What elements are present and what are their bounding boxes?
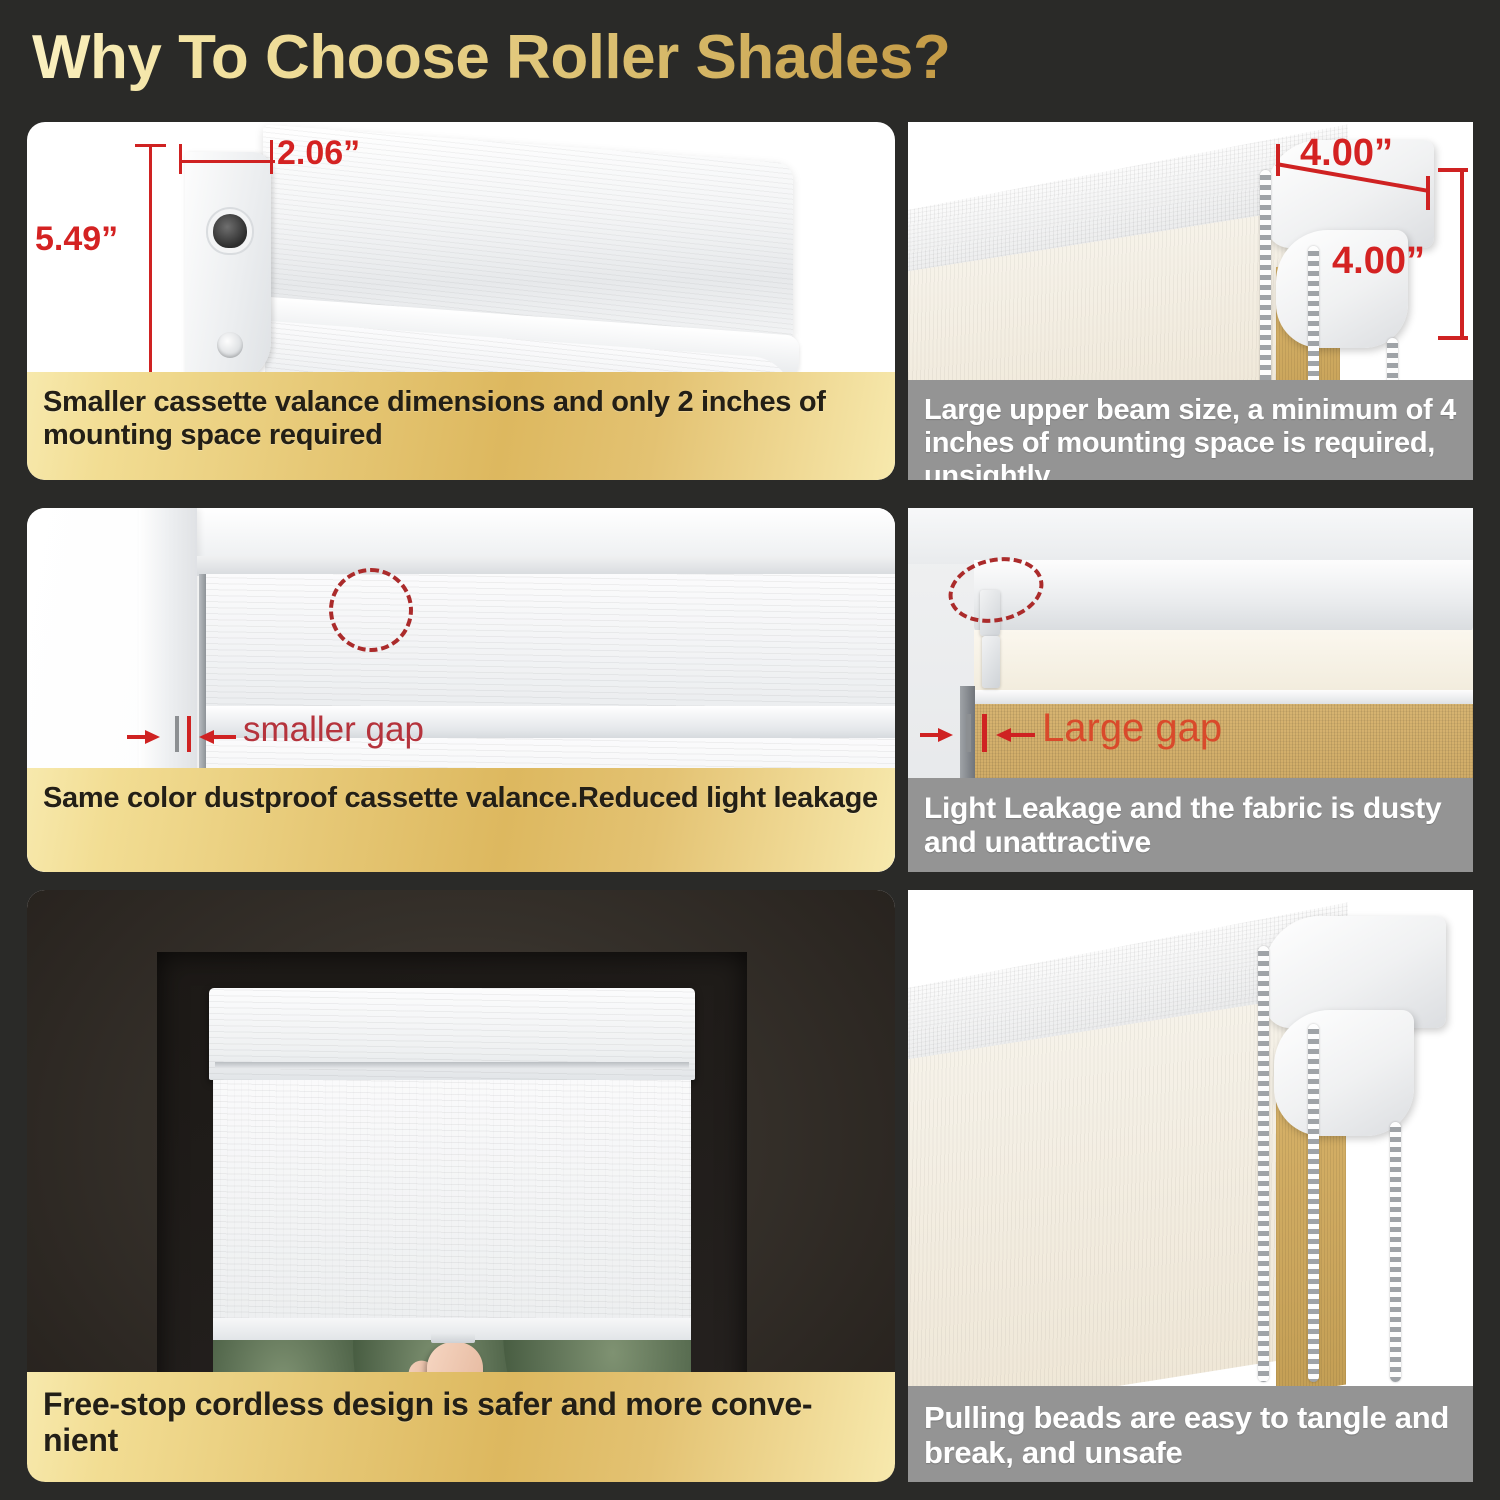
beam-width-tick-left bbox=[1276, 144, 1280, 176]
gap-highlight-circle bbox=[329, 568, 413, 652]
beam-height-line bbox=[1460, 168, 1464, 340]
panel-6-caption: Pulling beads are easy to tangle and bre… bbox=[908, 1386, 1473, 1482]
mounting-clip-lower bbox=[982, 636, 1000, 688]
panel-2-caption: Large upper beam size, a minimum of 4 in… bbox=[908, 380, 1473, 480]
panel-4-caption: Light Leakage and the fabric is dusty an… bbox=[908, 778, 1473, 872]
panel-3-caption: Same color dustproof cassette valance.Re… bbox=[27, 768, 895, 872]
width-dim-line bbox=[179, 160, 275, 163]
gap-marker-a bbox=[175, 716, 179, 752]
panel-1-caption: Smaller cassette valance dimensions and … bbox=[27, 372, 895, 480]
smaller-gap-label: smaller gap bbox=[243, 710, 424, 750]
panel-5-caption: Free-stop cordless design is safer and m… bbox=[27, 1372, 895, 1482]
roller-tube-bar bbox=[974, 560, 1473, 632]
beam-height-tick-top bbox=[1438, 168, 1468, 172]
bead-chain-front bbox=[1258, 946, 1269, 1382]
bead-chain-back bbox=[1390, 1122, 1401, 1382]
beam-height-label: 4.00” bbox=[1332, 240, 1425, 283]
shade-fabric-upper bbox=[203, 574, 895, 710]
roller-end-cap-lower bbox=[1274, 1010, 1414, 1136]
large-gap-label: Large gap bbox=[1042, 706, 1222, 751]
end-cap-screw bbox=[217, 332, 243, 358]
gap-arrow-left bbox=[145, 730, 160, 744]
beam-width-label: 4.00” bbox=[1300, 132, 1393, 175]
gap-arrow-right-shaft bbox=[214, 735, 236, 739]
panel-con-large-beam: 4.00” 4.00” Large upper beam size, a min… bbox=[908, 122, 1473, 480]
panel-pro-cassette-dimensions: 2.06” 5.49” Smaller cassette valance dim… bbox=[27, 122, 895, 480]
ceiling-band bbox=[908, 508, 1473, 564]
end-cap-socket bbox=[213, 214, 247, 248]
panel-pro-dustproof-valance: smaller gap Same color dustproof cassett… bbox=[27, 508, 895, 872]
gap-marker-b bbox=[187, 716, 191, 752]
height-dim-tick-top bbox=[135, 144, 166, 147]
panel-pro-cordless-design: Free-stop cordless design is safer and m… bbox=[27, 890, 895, 1482]
cordless-pull-tab bbox=[431, 1333, 475, 1343]
valance-slot bbox=[215, 1062, 689, 1069]
lower-shade-fabric bbox=[908, 996, 1308, 1424]
gap-arrow-right bbox=[996, 728, 1011, 742]
width-dim-tick-left bbox=[179, 144, 182, 174]
panel-con-light-leakage: Large gap Light Leakage and the fabric i… bbox=[908, 508, 1473, 872]
cassette-valance-rail bbox=[197, 556, 895, 576]
gap-arrow-right bbox=[199, 730, 214, 744]
cream-fabric-band bbox=[974, 630, 1473, 692]
height-dim-line bbox=[149, 144, 152, 376]
roller-shade-panel bbox=[213, 1080, 691, 1330]
beam-height-tick-bottom bbox=[1438, 336, 1468, 340]
gap-marker-b bbox=[982, 714, 987, 752]
width-dim-tick-right bbox=[270, 140, 273, 174]
gap-arrow-right-shaft bbox=[1011, 733, 1035, 737]
gap-marker-a bbox=[966, 714, 971, 752]
page-title: Why To Choose Roller Shades? bbox=[32, 22, 950, 93]
window-frame-top bbox=[139, 508, 895, 562]
gap-arrow-left-shaft bbox=[920, 733, 940, 737]
height-dimension-label: 5.49” bbox=[35, 220, 118, 259]
bead-chain-mid bbox=[1308, 1024, 1319, 1382]
panel-con-pulling-beads: Pulling beads are easy to tangle and bre… bbox=[908, 890, 1473, 1482]
width-dimension-label: 2.06” bbox=[277, 134, 360, 173]
gap-arrow-left-shaft bbox=[127, 735, 147, 739]
gap-arrow-left bbox=[938, 728, 953, 742]
